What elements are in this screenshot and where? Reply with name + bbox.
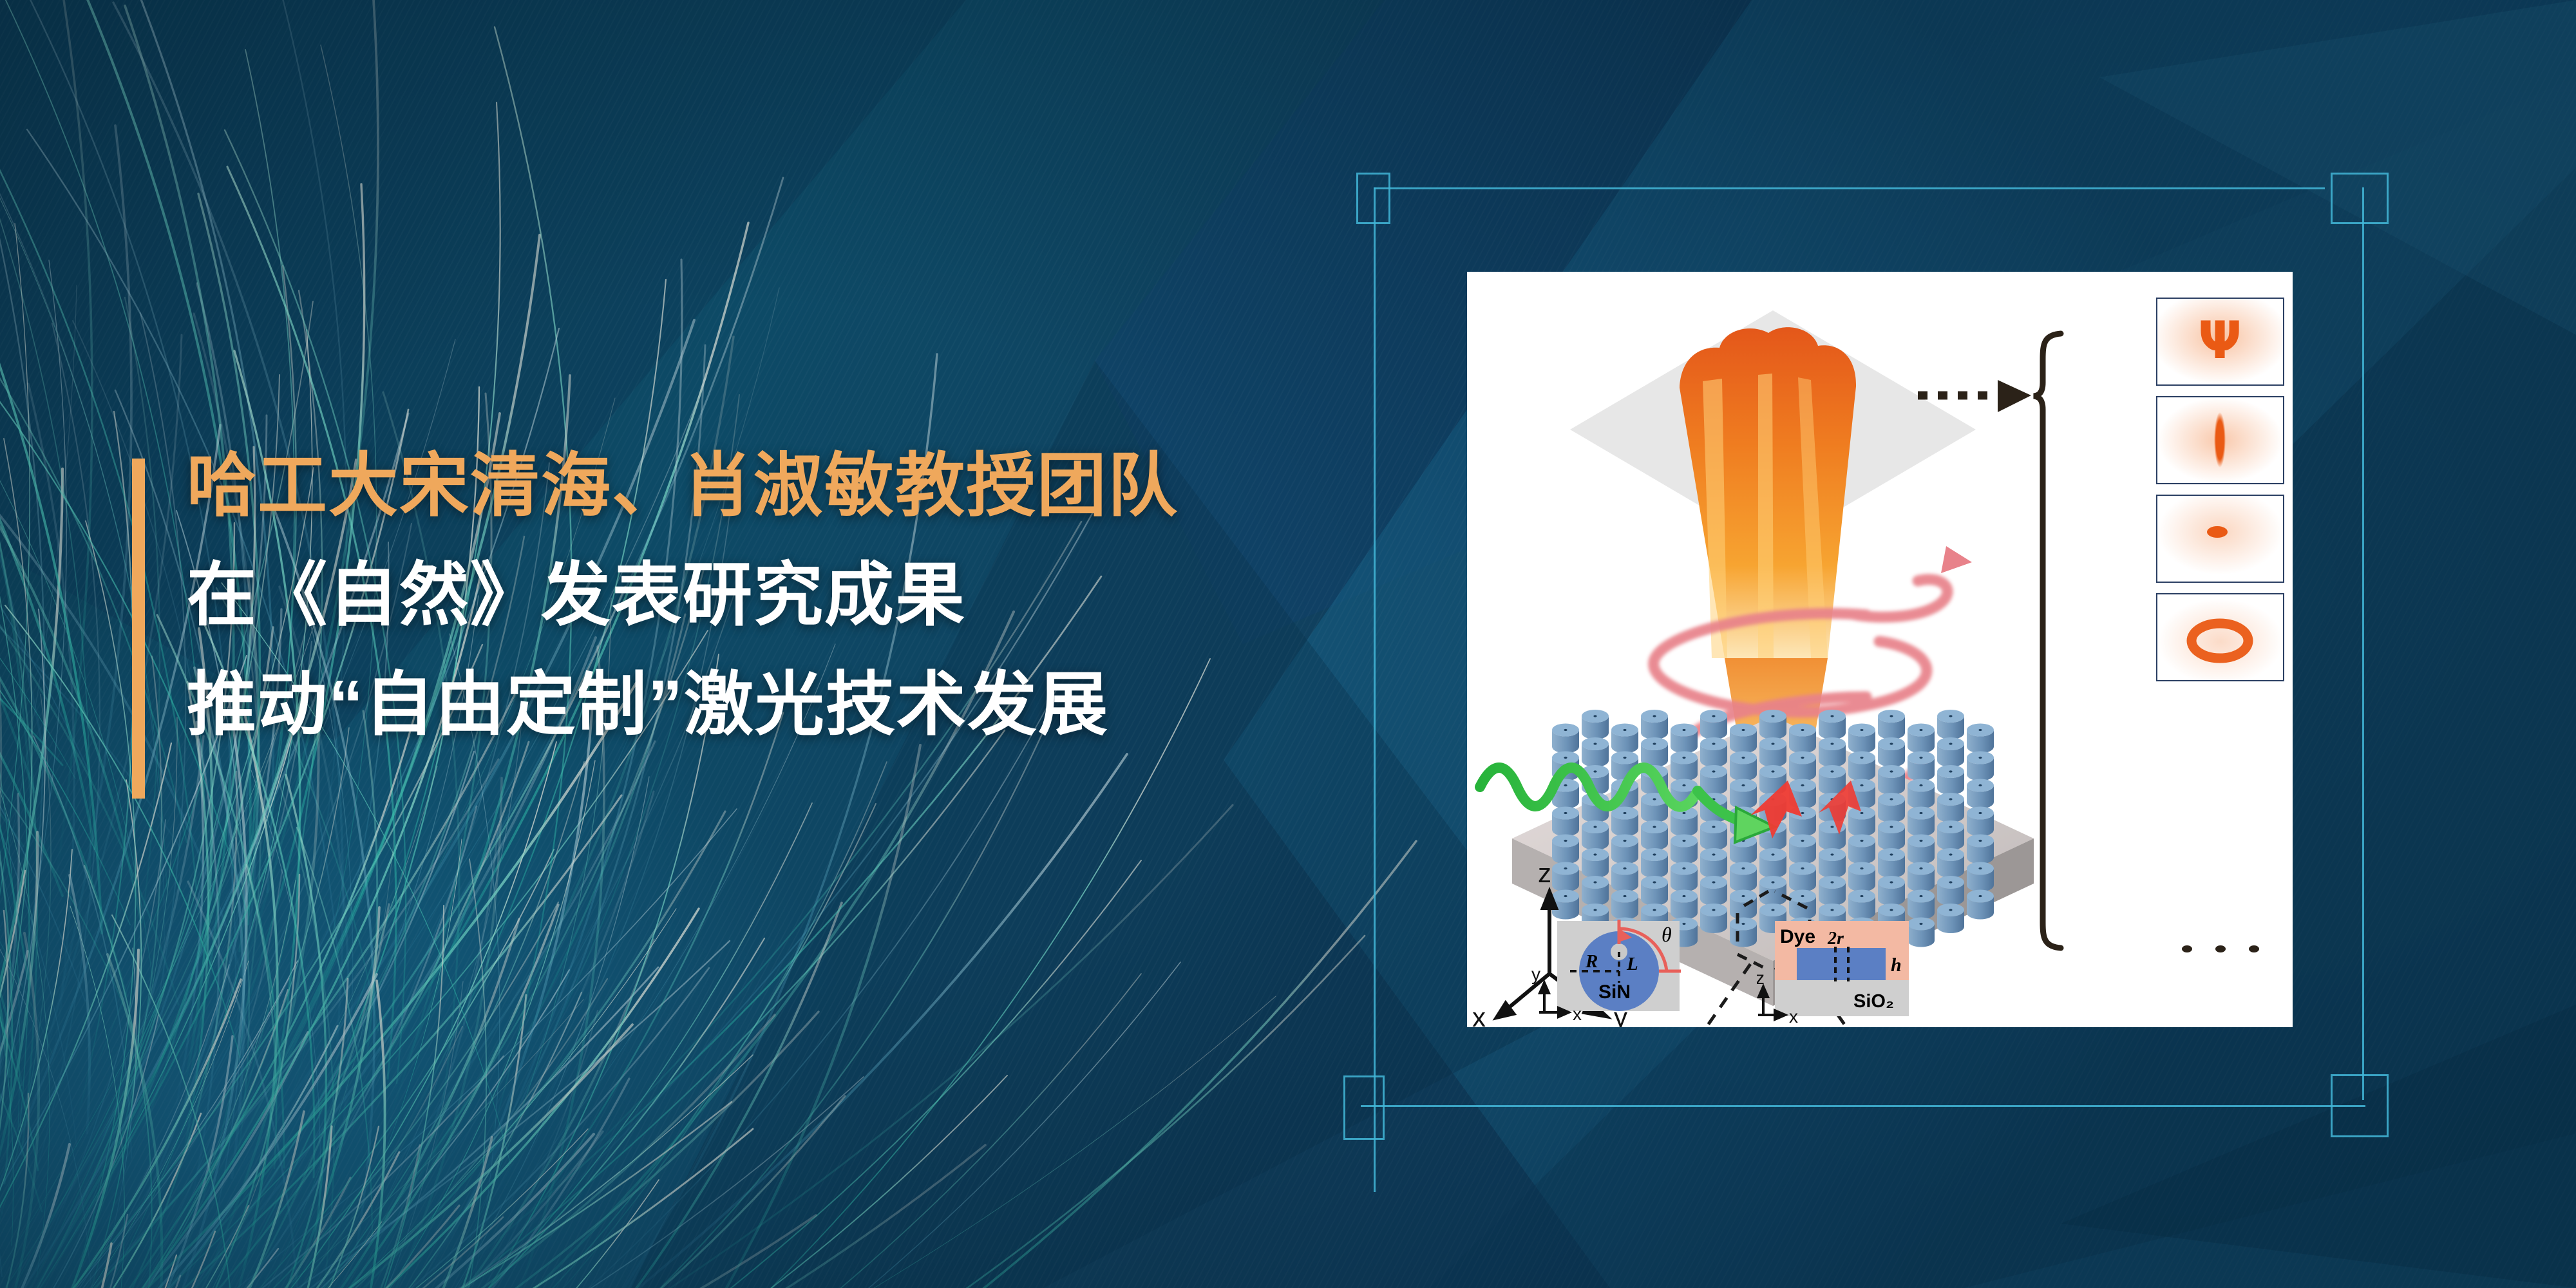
banner-root: 哈工大宋清海、肖淑敏教授团队 在《自然》发表研究成果 推动“自由定制”激光技术发…	[0, 0, 2576, 1288]
inset-axis-z: z	[1757, 968, 1765, 988]
deco-frame-top-right	[2331, 173, 2389, 224]
deco-frame-bottom-right	[2331, 1074, 2389, 1137]
svg-text:z: z	[1538, 858, 1551, 888]
accent-bar	[132, 459, 145, 799]
mode-box-dot	[2156, 495, 2284, 583]
headline-lines: 哈工大宋清海、肖淑敏教授团队 在《自然》发表研究成果 推动“自由定制”激光技术发…	[187, 451, 1385, 779]
headline-line-3: 推动“自由定制”激光技术发展	[187, 670, 1385, 739]
deco-line-bottom-horizontal	[1361, 1105, 2365, 1107]
mode-ellipsis	[2182, 940, 2272, 960]
deco-line-right-vertical	[2362, 187, 2364, 1100]
figure-panel: z x y R L SiN θ y	[1467, 272, 2293, 1027]
inset-label-theta: θ	[1662, 923, 1672, 946]
inset-label-2r: 2r	[1827, 929, 1844, 949]
mode-list: Ψ	[2085, 291, 2291, 999]
mode-box-line	[2156, 396, 2284, 484]
inset-axis-x2: x	[1789, 1007, 1798, 1027]
svg-text:x: x	[1472, 1002, 1486, 1027]
inset-top-view: R L SiN θ y x	[1524, 916, 1710, 1027]
mode-box-ring	[2156, 593, 2284, 681]
inset-axis-x: x	[1573, 1004, 1582, 1024]
dashed-arrow-icon	[1918, 380, 2031, 412]
headline-line-2: 在《自然》发表研究成果	[187, 560, 1385, 630]
inset-axis-y: y	[1531, 964, 1540, 984]
inset-label-L: L	[1626, 954, 1638, 974]
mode-pointer-group	[1911, 323, 2105, 999]
mode-shape-line	[2214, 412, 2226, 468]
inset-label-h: h	[1891, 954, 1902, 976]
deco-frame-bottom-left	[1343, 1075, 1385, 1140]
inset-label-R: R	[1585, 951, 1598, 972]
deco-line-top-horizontal	[1374, 187, 2325, 189]
curly-brace-icon	[2034, 334, 2061, 948]
mode-glyph-psi: Ψ	[2198, 310, 2242, 370]
inset-label-sin: SiN	[1598, 981, 1631, 1003]
headline-block: 哈工大宋清海、肖淑敏教授团队 在《自然》发表研究成果 推动“自由定制”激光技术发…	[132, 451, 1388, 811]
mode-box-psi: Ψ	[2156, 298, 2284, 386]
headline-line-1: 哈工大宋清海、肖淑敏教授团队	[187, 451, 1385, 520]
inset-label-sio2: SiO₂	[1853, 991, 1894, 1012]
inset-label-dye: Dye	[1780, 926, 1815, 947]
mode-shape-dot	[2207, 526, 2228, 538]
